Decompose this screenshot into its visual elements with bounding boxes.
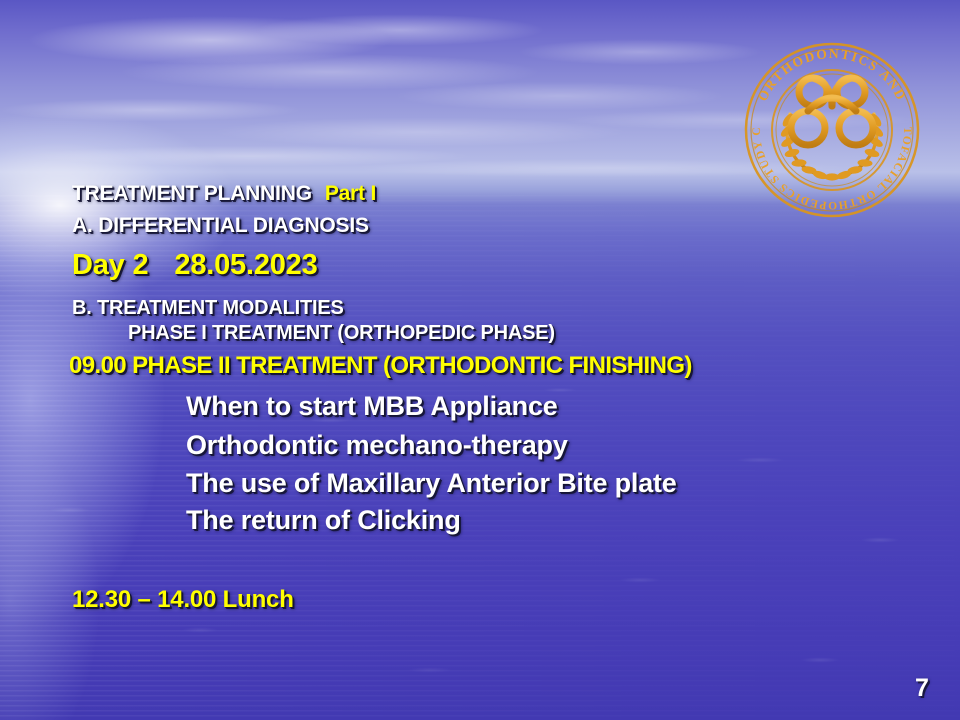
slide-title-part: Part I	[325, 182, 376, 205]
bullet-item: When to start MBB Appliance	[186, 391, 558, 422]
slide-title-main: TREATMENT PLANNING	[72, 182, 312, 205]
section-a-differential-diagnosis: A. DIFFERENTIAL DIAGNOSIS	[72, 214, 369, 238]
phase-two-treatment-line: 09.00 PHASE II TREATMENT (ORTHODONTIC FI…	[69, 352, 692, 380]
phase-one-treatment-line: PHASE I TREATMENT (ORTHOPEDIC PHASE)	[128, 322, 555, 345]
section-b-treatment-modalities: B. TREATMENT MODALITIES	[72, 297, 344, 320]
bullet-item: The use of Maxillary Anterior Bite plate	[186, 468, 677, 499]
presentation-slide: ORTHODONTICS AND DENTOFACIAL ORTHOPEDICS…	[0, 0, 960, 720]
day-label: Day 2	[72, 249, 148, 281]
day-date-line: Day 228.05.2023	[72, 249, 318, 282]
slide-text-content: TREATMENT PLANNINGPart I A. DIFFERENTIAL…	[0, 0, 960, 720]
bullet-item: Orthodontic mechano-therapy	[186, 430, 568, 461]
page-number: 7	[915, 674, 929, 703]
day-date: 28.05.2023	[174, 249, 317, 281]
lunch-break-line: 12.30 – 14.00 Lunch	[72, 586, 294, 614]
slide-title-line: TREATMENT PLANNINGPart I	[72, 182, 376, 206]
bullet-item: The return of Clicking	[186, 505, 461, 536]
